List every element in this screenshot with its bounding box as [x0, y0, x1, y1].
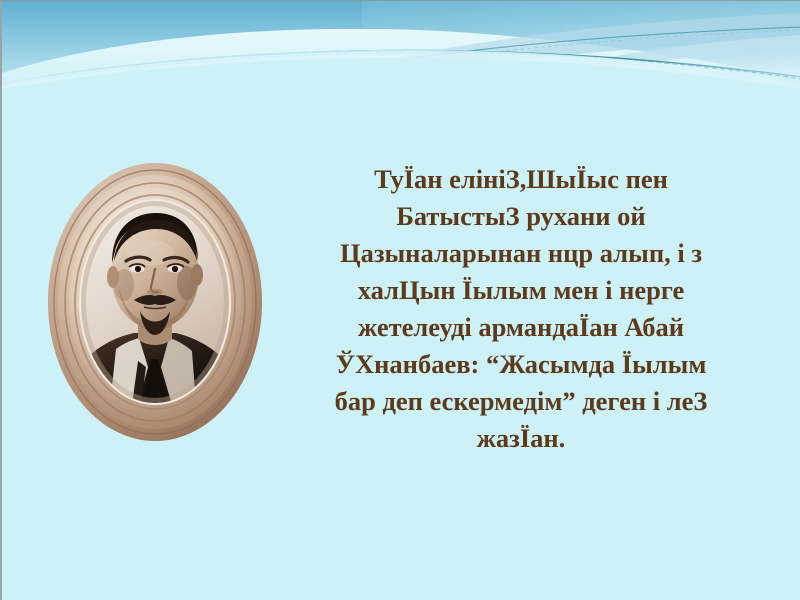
quote-line-8: жазЇан.	[280, 420, 762, 457]
quote-text-block: ТуЇан елініЗ,ШыЇыс пен БатыстыЗ рухани о…	[280, 161, 762, 457]
quote-line-4: халЦын Ïылым мен і нерге	[280, 272, 762, 309]
quote-line-6: ЎХнанбаев: “Жасымда Їылым	[280, 346, 762, 383]
quote-line-2: БатыстыЗ рухани ой	[280, 198, 762, 235]
quote-line-5: жетелеуді армандаЇан Абай	[280, 309, 762, 346]
quote-line-1: ТуЇан елініЗ,ШыЇыс пен	[280, 161, 762, 198]
presentation-slide: ТуЇан елініЗ,ШыЇыс пен БатыстыЗ рухани о…	[0, 0, 800, 600]
quote-line-7: бар деп ескермедім” деген і леЗ	[280, 383, 762, 420]
decorative-wave-banner	[2, 1, 800, 93]
abai-qunanbaiuly-portrait	[46, 161, 264, 443]
quote-line-3: Цазыналарынан нцр алып, і з	[280, 235, 762, 272]
